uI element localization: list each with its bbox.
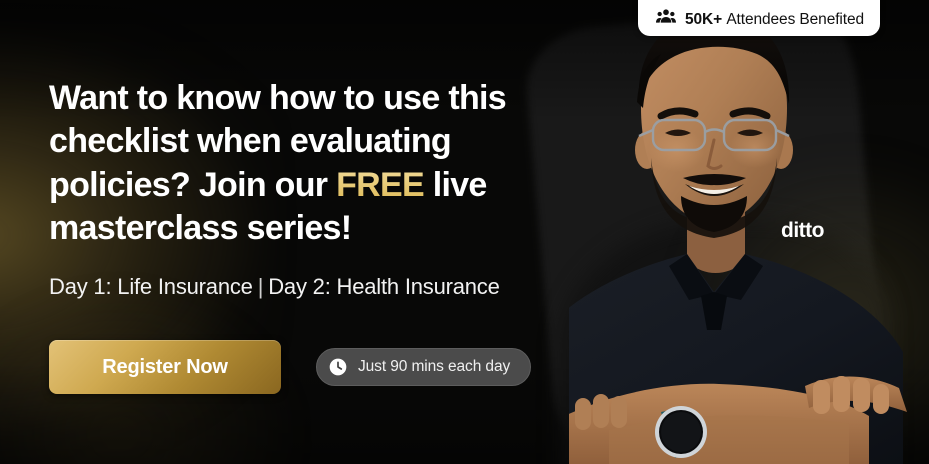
smartwatch [655, 406, 707, 458]
headline-highlight-free: FREE [336, 166, 424, 204]
attendees-badge: 50K+ Attendees Benefited [638, 0, 880, 36]
cta-row: Register Now Just 90 mins each day [49, 340, 531, 394]
shirt-logo-ditto: ditto [781, 219, 824, 242]
badge-caption: Attendees Benefited [726, 11, 864, 28]
page-title: Want to know how to use this checklist w… [49, 77, 549, 250]
schedule-day2: Day 2: Health Insurance [268, 274, 499, 299]
clock-icon [328, 357, 348, 377]
schedule-day1: Day 1: Life Insurance [49, 274, 253, 299]
presenter-photo: ditto [569, 0, 929, 464]
badge-label: 50K+ Attendees Benefited [685, 12, 864, 28]
schedule-separator: | [253, 274, 269, 299]
promo-banner: ditto [0, 0, 929, 464]
badge-count: 50K+ [685, 11, 722, 28]
duration-pill: Just 90 mins each day [316, 348, 531, 386]
people-group-icon [656, 6, 676, 26]
duration-label: Just 90 mins each day [358, 358, 510, 376]
register-now-button[interactable]: Register Now [49, 340, 281, 394]
schedule-subtitle: Day 1: Life Insurance|Day 2: Health Insu… [49, 274, 500, 300]
content-column: Want to know how to use this checklist w… [49, 0, 589, 464]
